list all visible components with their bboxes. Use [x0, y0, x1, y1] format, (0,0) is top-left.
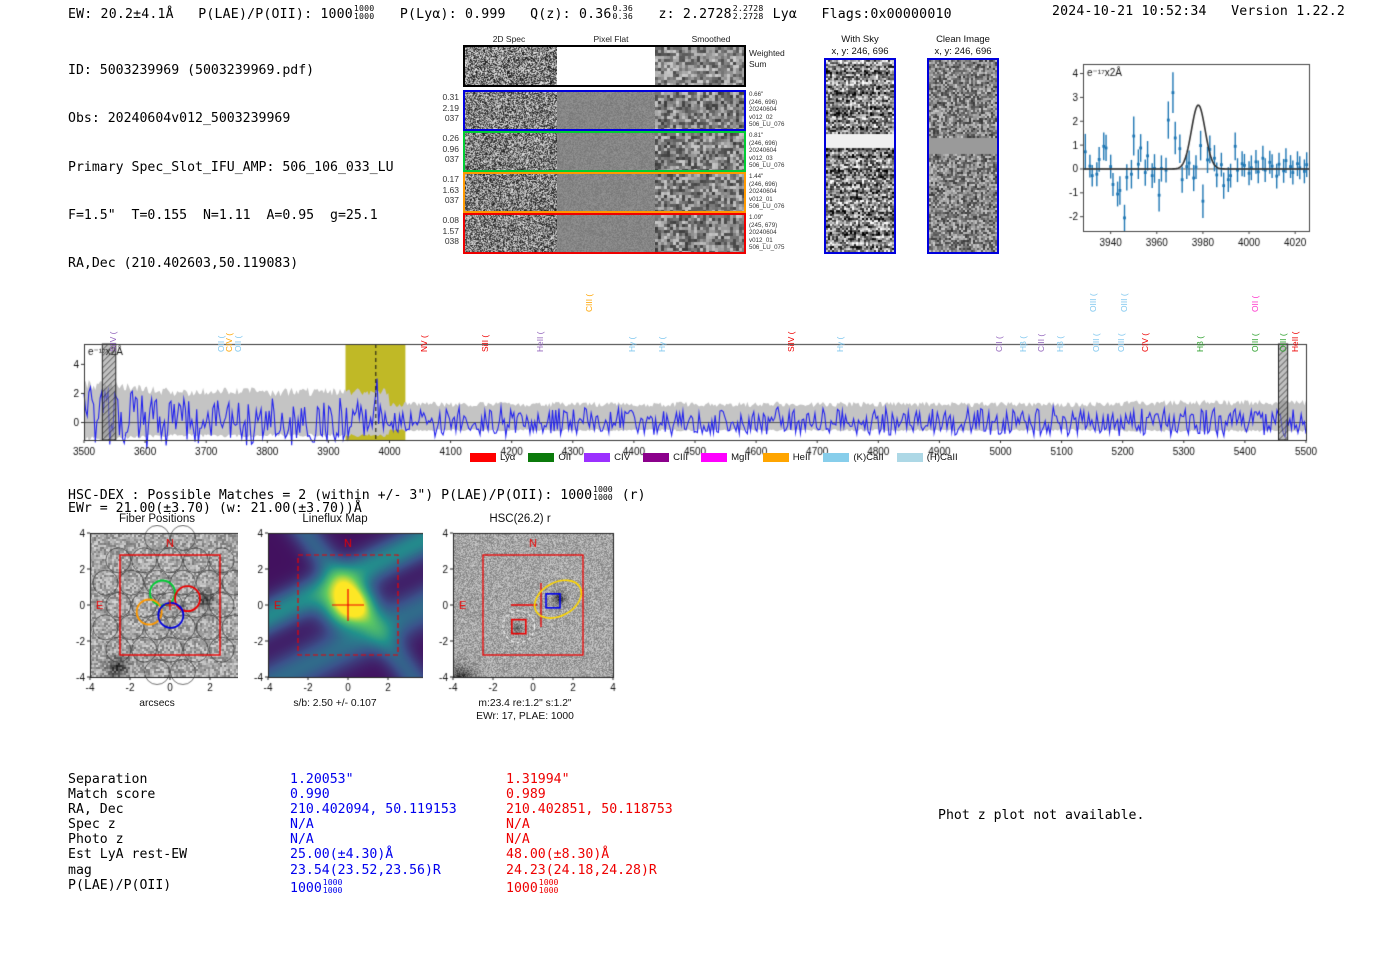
match-row-value-blue: N/A: [290, 817, 506, 832]
clean-image: [927, 58, 999, 254]
legend-swatch: [701, 453, 727, 462]
lineflux-map-panel: [238, 525, 438, 705]
match-row-value-blue: 100010001000: [290, 878, 506, 896]
emission-line-label: OIII (: [1116, 333, 1126, 352]
emission-line-legend: LyαOIICIVCIIIMgIIHeII(K)CaII(H)CaII: [470, 452, 958, 463]
match-row-label: Photo z: [68, 832, 290, 847]
match-row-value-blue: N/A: [290, 832, 506, 847]
legend-item-HeII: HeII: [763, 452, 811, 463]
match-table-row: Est LyA rest-EW25.00(±4.30)Å48.00(±8.30)…: [68, 847, 766, 862]
match-row-label: Separation: [68, 772, 290, 787]
montage-row-1-stat-2: 037: [427, 154, 459, 165]
match-row-value-red: 24.23(24.18,24.28)R: [506, 863, 766, 878]
header-z-fraction: 2.27282.2728: [733, 4, 764, 20]
legend-label: MgII: [731, 452, 750, 463]
panel-title-fiber-positions: Fiber Positions: [62, 513, 252, 525]
legend-item-CIII: CIII: [643, 452, 688, 463]
match-table-row-plae: P(LAE)/P(OII)100010001000100010001000: [68, 878, 766, 896]
montage-row-0-meta-4: 506_LU_076: [749, 121, 809, 129]
header-flags: Flags:0x00000010: [822, 7, 952, 22]
montage-weighted-sum-row: [463, 45, 746, 87]
match-row-label: Spec z: [68, 817, 290, 832]
legend-item-OII: OII: [528, 452, 571, 463]
weighted-sum-2dspec-image: [465, 47, 557, 85]
lineflux-map-caption: s/b: 2.50 +/- 0.107: [240, 697, 430, 710]
header-z-label: z: 2.2728: [658, 7, 731, 22]
match-row-value-red: 210.402851, 50.118753: [506, 802, 766, 817]
legend-item-CIV: CIV: [584, 452, 630, 463]
legend-swatch: [763, 453, 789, 462]
emission-line-label: CII (: [994, 336, 1004, 352]
emission-line-label: Hγ (: [627, 337, 637, 352]
version: Version 1.22.2: [1231, 4, 1345, 19]
plae-fraction: 10001000: [539, 878, 559, 894]
match-row-label: Est LyA rest-EW: [68, 847, 290, 862]
legend-label: (K)CaII: [853, 452, 883, 463]
montage-row-0-stat-1: 2.19: [427, 103, 459, 114]
panel-title-hsc-r: HSC(26.2) r: [425, 513, 615, 525]
montage-row-2-meta-2: 20240604: [749, 188, 809, 196]
emission-line-label: OIII (: [1278, 333, 1288, 352]
legend-label: CIII: [673, 452, 688, 463]
match-row-value-red: 48.00(±8.30)Å: [506, 847, 766, 862]
emission-line-label: Hγ (: [835, 337, 845, 352]
montage-row-1-meta-0: 0.81": [749, 132, 809, 140]
match-table-row: Photo zN/AN/A: [68, 832, 766, 847]
emission-line-label: OIII (: [1088, 293, 1098, 312]
emission-line-label: Hβ (: [1055, 336, 1065, 352]
hscdex-headline-tail: (r): [622, 488, 646, 503]
montage-row-2-meta-0: 1.44": [749, 173, 809, 181]
legend-item-HCaII: (H)CaII: [897, 452, 958, 463]
match-table: Separation1.20053"1.31994"Match score0.9…: [68, 772, 766, 896]
montage-row-1-smoothed: [655, 133, 744, 170]
match-row-value-red: 100010001000: [506, 878, 766, 896]
montage-row-2-smoothed: [655, 174, 744, 211]
emission-line-label: SiIV (: [786, 332, 796, 352]
emission-line-label: Hγ (: [657, 337, 667, 352]
hscdex-headline: HSC-DEX : Possible Matches = 2 (within +…: [68, 485, 646, 503]
match-row-value-blue: 1.20053": [290, 772, 506, 787]
montage-row-1-stat-1: 0.96: [427, 144, 459, 155]
emission-line-label: CIII (: [584, 294, 594, 312]
match-row-label: P(LAE)/P(OII): [68, 878, 290, 896]
emission-line-label: OII (: [1250, 296, 1260, 312]
legend-label: OII: [558, 452, 571, 463]
montage-row-3-smoothed: [655, 215, 744, 252]
montage-row-2-stats: 0.171.63037: [427, 174, 459, 206]
hscdex-headline-text: HSC-DEX : Possible Matches = 2 (within +…: [68, 488, 592, 503]
header-z-type: Lyα: [773, 7, 797, 22]
plae-fraction: 10001000: [323, 878, 343, 894]
montage-row-1-meta-4: 506_LU_076: [749, 162, 809, 170]
legend-label: HeII: [793, 452, 811, 463]
emission-line-label: CIII (: [1036, 334, 1046, 352]
montage-row-0-stat-0: 0.31: [427, 92, 459, 103]
montage-row-0-smoothed: [655, 92, 744, 129]
weighted-sum-smoothed-image: [655, 47, 744, 85]
montage-row-2-meta: 1.44"(246, 696)20240604v012_01506_LU_076: [749, 173, 809, 211]
montage-row-1-meta-3: v012_03: [749, 155, 809, 163]
hscdex-plae-fraction: 10001000: [593, 485, 613, 501]
weighted-sum-label: Weighted Sum: [749, 48, 803, 69]
montage-row-3-stat-0: 0.08: [427, 215, 459, 226]
montage-row-2-stat-2: 037: [427, 195, 459, 206]
montage-row-0-meta-0: 0.66": [749, 91, 809, 99]
match-table-row: Separation1.20053"1.31994": [68, 772, 766, 787]
report-page: EW: 20.2±4.1Å P(LAE)/P(OII): 10001000100…: [0, 0, 1400, 953]
montage-row-1-images: [463, 131, 746, 172]
emission-line-label: NV (: [419, 335, 429, 352]
montage-title-smoothed: Smoothed: [668, 34, 754, 44]
montage-row-1-pixelflat: [557, 133, 655, 170]
match-row-label: mag: [68, 863, 290, 878]
match-row-value-red: N/A: [506, 817, 766, 832]
montage-row-2-meta-1: (246, 696): [749, 181, 809, 189]
montage-row-3-pixelflat: [557, 215, 655, 252]
montage-row-3-meta-1: (245, 679): [749, 222, 809, 230]
emission-line-label: HeII (: [535, 332, 545, 352]
header-ew: EW: 20.2±4.1Å: [68, 7, 174, 22]
hsc-r-caption: m:23.4 re:1.2" s:1.2" EWr: 17, PLAE: 100…: [425, 697, 625, 723]
montage-row-0-2dspec: [465, 92, 557, 129]
montage-row-2-meta-4: 506_LU_076: [749, 203, 809, 211]
full-spectrum-panel: SiIV (OII (CIV (OII (NV (SiII (HeII (Hγ …: [60, 272, 1320, 472]
montage-row-0-images: [463, 90, 746, 131]
with-sky-title: With Sky x, y: 246, 696: [812, 34, 908, 57]
emission-line-label: CIV (: [1140, 333, 1150, 352]
montage-row-3-2dspec: [465, 215, 557, 252]
weighted-sum-pixelflat-image: [557, 47, 655, 85]
montage-title-2dspec: 2D Spec: [466, 34, 552, 44]
match-row-value-red: N/A: [506, 832, 766, 847]
fiber-positions-panel: [60, 525, 260, 705]
legend-label: (H)CaII: [927, 452, 958, 463]
montage-row-2-images: [463, 172, 746, 213]
header-qz-label: Q(z): 0.36: [530, 7, 611, 22]
montage-row-0-meta-3: v012_02: [749, 114, 809, 122]
header-plya: P(Lyα): 0.999: [400, 7, 506, 22]
montage-row-2-2dspec: [465, 174, 557, 211]
clean-image-title: Clean Image x, y: 246, 696: [915, 34, 1011, 57]
legend-item-KCaII: (K)CaII: [823, 452, 883, 463]
montage-row-0-meta-1: (246, 696): [749, 99, 809, 107]
header-plae-label: P(LAE)/P(OII): 1000: [198, 7, 353, 22]
emission-line-label: OIII (: [1119, 293, 1129, 312]
emission-line-label: SiII (: [480, 335, 490, 352]
emission-line-label: OII (: [233, 336, 243, 352]
header-summary-line: EW: 20.2±4.1Å P(LAE)/P(OII): 10001000100…: [68, 4, 952, 22]
montage-row-1-2dspec: [465, 133, 557, 170]
match-row-value-blue: 0.990: [290, 787, 506, 802]
match-row-value-blue: 23.54(23.52,23.56)R: [290, 863, 506, 878]
match-row-value-red: 0.989: [506, 787, 766, 802]
montage-row-2-meta-3: v012_01: [749, 196, 809, 204]
montage-row-3-meta: 1.09"(245, 679)20240604v012_01506_LU_075: [749, 214, 809, 252]
legend-swatch: [528, 453, 554, 462]
emission-line-label: Hβ (: [1018, 336, 1028, 352]
legend-swatch: [584, 453, 610, 462]
emission-line-label: HeII (: [1290, 332, 1300, 352]
montage-row-0-meta: 0.66"(246, 696)20240604v012_02506_LU_076: [749, 91, 809, 129]
zoom-1d-spectrum-panel: [1045, 50, 1315, 265]
montage-row-2-stat-1: 1.63: [427, 185, 459, 196]
legend-swatch: [643, 453, 669, 462]
fiber-positions-caption: arcsecs: [62, 697, 252, 710]
montage-row-1-stat-0: 0.26: [427, 133, 459, 144]
montage-row-3-meta-2: 20240604: [749, 229, 809, 237]
header-qz-fraction: 0.360.36: [613, 4, 634, 20]
montage-row-3-meta-0: 1.09": [749, 214, 809, 222]
info-obs: Obs: 20240604v012_5003239969: [68, 111, 404, 127]
montage-row-0-meta-2: 20240604: [749, 106, 809, 114]
info-primary-slot: Primary Spec_Slot_IFU_AMP: 506_106_033_L…: [68, 160, 404, 176]
match-row-value-blue: 25.00(±4.30)Å: [290, 847, 506, 862]
montage-row-2-pixelflat: [557, 174, 655, 211]
photoz-note: Phot z plot not available.: [938, 808, 1144, 823]
montage-row-3-meta-4: 506_LU_075: [749, 244, 809, 252]
emission-line-label: Hβ (: [1195, 336, 1205, 352]
montage-row-2-stat-0: 0.17: [427, 174, 459, 185]
match-row-value-red: 1.31994": [506, 772, 766, 787]
legend-item-MgII: MgII: [701, 452, 750, 463]
montage-row-3-stat-1: 1.57: [427, 226, 459, 237]
legend-item-Lyα: Lyα: [470, 452, 515, 463]
legend-swatch: [823, 453, 849, 462]
match-table-row: mag23.54(23.52,23.56)R24.23(24.18,24.28)…: [68, 863, 766, 878]
legend-swatch: [897, 453, 923, 462]
match-table-row: Match score0.9900.989: [68, 787, 766, 802]
match-table-row: Spec zN/AN/A: [68, 817, 766, 832]
montage-row-3-stat-2: 038: [427, 236, 459, 247]
montage-row-3-images: [463, 213, 746, 254]
timestamp: 2024-10-21 10:52:34: [1052, 4, 1207, 19]
match-row-label: Match score: [68, 787, 290, 802]
montage-row-0-stat-2: 037: [427, 113, 459, 124]
with-sky-image: [824, 58, 896, 254]
info-id: ID: 5003239969 (5003239969.pdf): [68, 63, 404, 79]
info-seeing-params: F=1.5" T=0.155 N=1.11 A=0.95 g=25.1: [68, 208, 404, 224]
montage-row-0-stats: 0.312.19037: [427, 92, 459, 124]
legend-swatch: [470, 453, 496, 462]
montage-row-1-meta: 0.81"(246, 696)20240604v012_03506_LU_076: [749, 132, 809, 170]
emission-line-label: OIII (: [1091, 333, 1101, 352]
panel-title-lineflux-map: Lineflux Map: [240, 513, 430, 525]
match-row-value-blue: 210.402094, 50.119153: [290, 802, 506, 817]
montage-row-1-meta-1: (246, 696): [749, 140, 809, 148]
montage-row-1-meta-2: 20240604: [749, 147, 809, 155]
match-table-row: RA, Dec210.402094, 50.119153210.402851, …: [68, 802, 766, 817]
hsc-r-panel: [423, 525, 623, 705]
header-timestamp-version: 2024-10-21 10:52:34 Version 1.22.2: [1052, 4, 1345, 19]
montage-row-1-stats: 0.260.96037: [427, 133, 459, 165]
emission-line-label: SiIV (: [108, 332, 118, 352]
legend-label: Lyα: [500, 452, 515, 463]
header-plae-fraction: 10001000: [354, 4, 375, 20]
montage-row-3-meta-3: v012_01: [749, 237, 809, 245]
emission-line-label: OIII (: [1250, 333, 1260, 352]
info-radec: RA,Dec (210.402603,50.119083): [68, 256, 404, 272]
legend-label: CIV: [614, 452, 630, 463]
montage-row-0-pixelflat: [557, 92, 655, 129]
montage-row-3-stats: 0.081.57038: [427, 215, 459, 247]
montage-title-pixelflat: Pixel Flat: [568, 34, 654, 44]
match-row-label: RA, Dec: [68, 802, 290, 817]
